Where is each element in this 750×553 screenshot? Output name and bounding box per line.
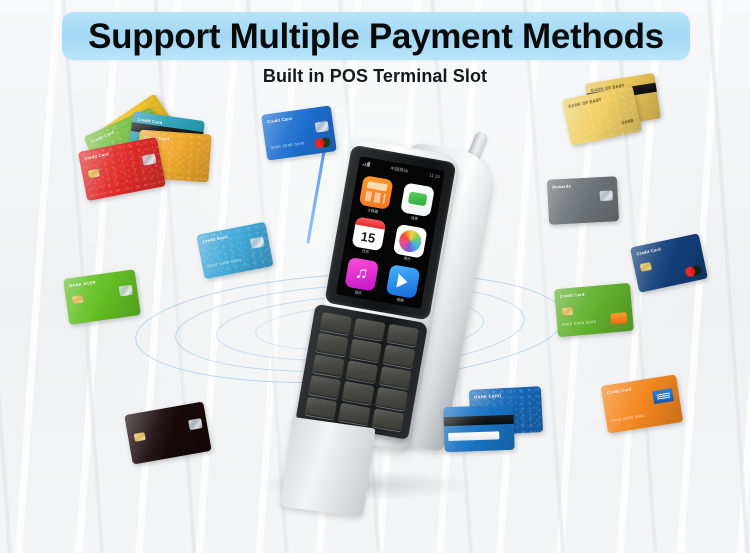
card-brand-label: Rewards [552, 184, 571, 190]
card-network-badge [610, 312, 627, 324]
card-number: 0000 0000 0000 [562, 320, 597, 327]
card-brand-label: Credit Card [606, 386, 631, 395]
signal-bars-icon [363, 161, 370, 167]
device-screen[interactable]: 中国移动 11:25 计算器信息15日历照片音乐视频 [336, 156, 445, 309]
card-number: 0000 0000 0000 [611, 414, 646, 423]
payment-card-rewards-card: Rewards [547, 176, 619, 225]
keypad-key[interactable] [371, 408, 404, 431]
card-number: 0000 0000 0000 [271, 141, 306, 150]
app-icon-messages[interactable]: 信息 [398, 182, 437, 224]
title-banner: Support Multiple Payment Methods [62, 12, 690, 60]
keypad-key[interactable] [308, 375, 341, 398]
card-brand-label: Credit Card [267, 116, 292, 124]
calendar-day-number: 15 [351, 224, 384, 251]
keypad-key[interactable] [305, 396, 338, 419]
keypad-key[interactable] [312, 354, 345, 377]
mastercard-logo-icon [314, 137, 331, 149]
payment-card-green-credit-card: Credit Card0000 0000 0000 [554, 283, 634, 337]
app-icon-music[interactable]: 音乐 [341, 257, 380, 299]
mastercard-logo-icon [684, 265, 702, 278]
keypad-key[interactable] [375, 387, 408, 410]
hologram-icon [315, 121, 329, 133]
magnetic-stripe [444, 415, 514, 426]
promo-image-stage: Credit Card0000 0000 0000BANK OF EASTBAN… [0, 0, 750, 553]
app-icon-calendar[interactable]: 15日历 [348, 216, 387, 258]
keypad-key[interactable] [345, 360, 378, 383]
hologram-icon [600, 191, 614, 202]
emv-chip-icon [562, 307, 574, 316]
card-slot[interactable] [280, 417, 376, 518]
app-icon-photos[interactable]: 照片 [390, 223, 429, 265]
card-network-badge [652, 389, 674, 405]
calculator-icon [359, 175, 394, 210]
app-grid: 计算器信息15日历照片音乐视频 [341, 175, 437, 306]
video-icon [386, 264, 421, 299]
keypad-key[interactable] [386, 324, 419, 347]
card-brand-label: BANK ACER [69, 280, 96, 289]
keypad-key[interactable] [383, 345, 416, 368]
keypad-key[interactable] [319, 312, 352, 335]
keypad-key[interactable] [353, 318, 386, 341]
hologram-icon [119, 284, 133, 296]
clock-label: 11:25 [429, 172, 441, 179]
calendar-icon: 15 [351, 216, 386, 251]
keypad-key[interactable] [379, 366, 412, 389]
card-gloss-overlay [443, 405, 515, 452]
app-icon-calculator[interactable]: 计算器 [356, 175, 395, 217]
messages-icon [400, 182, 435, 217]
keypad-key[interactable] [349, 339, 382, 362]
keypad-key[interactable] [342, 381, 375, 404]
emv-chip-icon [134, 432, 146, 442]
payment-card-blue-bank-back [443, 405, 515, 452]
keypad-key[interactable] [338, 402, 371, 425]
page-title: Support Multiple Payment Methods [88, 19, 664, 54]
credit-card-fan-group: Credit CardCredit CardCredit CardCredit … [72, 110, 192, 220]
payment-card-blue-mastercard: Credit Card0000 0000 0000 [261, 105, 337, 160]
music-icon [344, 257, 379, 292]
app-icon-video[interactable]: 视频 [383, 264, 422, 306]
photos-icon [393, 223, 428, 258]
keypad-key[interactable] [316, 333, 349, 356]
card-brand-label: Credit Card [559, 292, 584, 299]
carrier-label: 中国移动 [390, 165, 409, 174]
emv-chip-icon [640, 262, 652, 272]
signature-panel [448, 431, 499, 440]
card-brand-label: Credit Card [636, 246, 662, 256]
hologram-icon [188, 418, 203, 430]
card-gloss-overlay [261, 105, 337, 160]
emv-chip-icon [72, 295, 84, 304]
